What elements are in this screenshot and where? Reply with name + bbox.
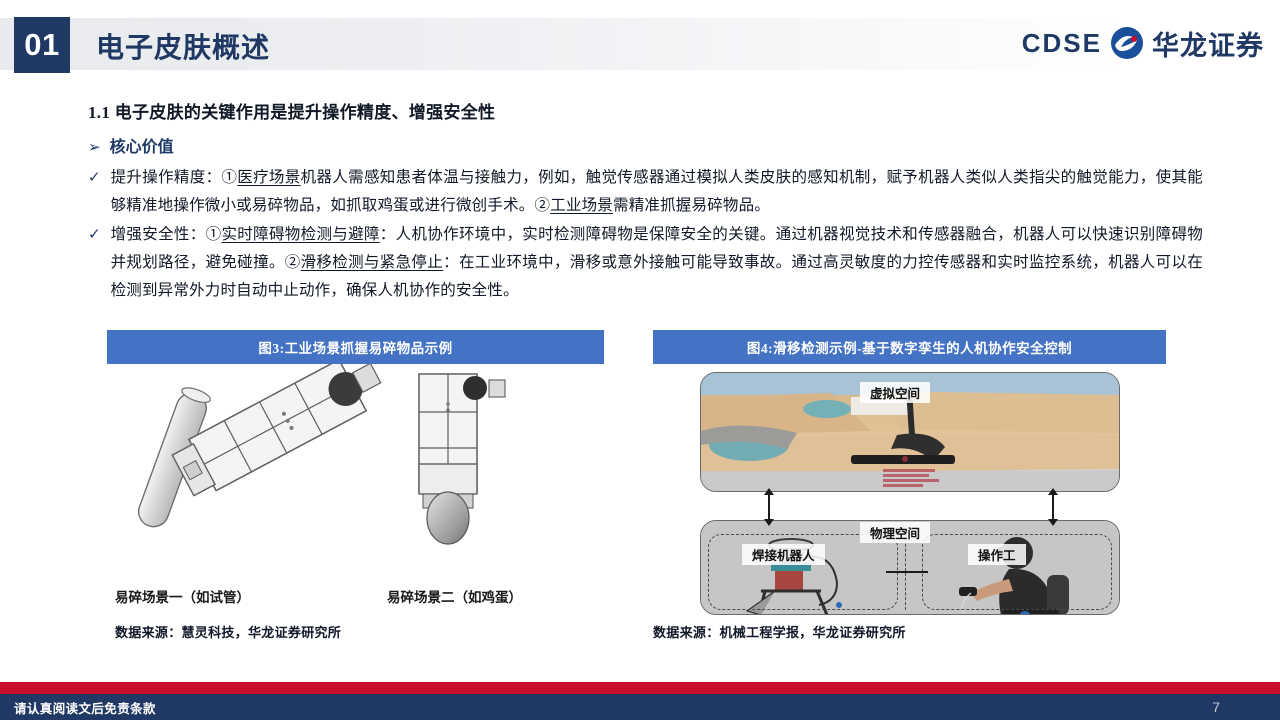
paragraph-safety-label: 增强安全性： xyxy=(111,226,206,243)
figure-4-caption: 图4:滑移检测示例-基于数字孪生的人机协作安全控制 xyxy=(653,330,1166,364)
figure-3-source: 数据来源：慧灵科技，华龙证券研究所 xyxy=(115,622,341,641)
sync-arrow-left-icon xyxy=(768,494,770,520)
sync-arrow-right-icon xyxy=(1052,494,1054,520)
gripper-label-1: 易碎场景一（如试管） xyxy=(115,586,250,606)
interaction-arrow-icon xyxy=(886,571,928,573)
figure-4-source: 数据来源：机械工程学报，华龙证券研究所 xyxy=(653,622,906,641)
figure-3: 图3:工业场景抓握易碎物品示例 xyxy=(107,330,604,619)
arrow-bullet-icon: ➢ xyxy=(88,138,101,157)
paragraph-safety-text: 增强安全性：①实时障碍物检测与避障：人机协作环境中，实时检测障碍物是保障安全的关… xyxy=(111,221,1203,305)
seg-underlined: 实时障碍物检测与避障 xyxy=(221,226,379,243)
section-subtitle: 1.1 电子皮肤的关键作用是提升操作精度、增强安全性 xyxy=(88,98,495,123)
gripper-illustrations xyxy=(107,364,604,579)
seg-underlined: 滑移检测与紧急停止 xyxy=(301,254,444,271)
slide-header: 01 电子皮肤概述 CDSE 华龙证券 xyxy=(0,0,1280,88)
seg: 需精准抓握易碎物品。 xyxy=(613,197,770,214)
wave-swoosh-icon xyxy=(1109,25,1145,61)
paragraph-precision: ✓ 提升操作精度：①医疗场景机器人需感知患者体温与接触力，例如，触觉传感器通过模… xyxy=(88,164,1203,220)
core-value-label: 核心价值 xyxy=(110,133,174,157)
page-title: 电子皮肤概述 xyxy=(96,26,270,66)
figure-3-caption: 图3:工业场景抓握易碎物品示例 xyxy=(107,330,604,364)
footer-disclaimer: 请认真阅读文后免责条款 xyxy=(14,698,156,717)
seg: ① xyxy=(206,226,222,243)
check-bullet-icon: ✓ xyxy=(88,221,101,249)
brand-cdse-text: CDSE xyxy=(1022,28,1102,59)
seg-underlined: 工业场景 xyxy=(550,197,613,214)
label-welding-robot: 焊接机器人 xyxy=(742,544,825,565)
digital-twin-diagram: 虚拟空间 物理空间 焊接机器人 操作工 xyxy=(700,372,1120,615)
figure-3-image: 易碎场景一（如试管） 易碎场景二（如鸡蛋） xyxy=(107,364,604,619)
figure-4: 图4:滑移检测示例-基于数字孪生的人机协作安全控制 xyxy=(653,330,1166,619)
paragraph-safety: ✓ 增强安全性：①实时障碍物检测与避障：人机协作环境中，实时检测障碍物是保障安全… xyxy=(88,221,1203,305)
label-physical-space: 物理空间 xyxy=(860,522,930,543)
figure-4-image: 虚拟空间 物理空间 焊接机器人 操作工 xyxy=(653,364,1166,619)
section-number-badge: 01 xyxy=(14,17,70,73)
seg-underlined: 医疗场景 xyxy=(237,169,300,186)
seg: ① xyxy=(221,169,237,186)
gripper-label-2: 易碎场景二（如鸡蛋） xyxy=(387,586,522,606)
brand-chinese-name: 华龙证券 xyxy=(1152,24,1264,63)
check-bullet-icon: ✓ xyxy=(88,164,101,192)
footer-bar: 请认真阅读文后免责条款 7 xyxy=(0,694,1280,720)
paragraph-precision-label: 提升操作精度： xyxy=(111,169,222,186)
brand-logo: CDSE 华龙证券 xyxy=(1022,22,1264,64)
footer-red-bar xyxy=(0,682,1280,694)
seg: ② xyxy=(285,254,301,271)
label-operator: 操作工 xyxy=(968,544,1026,565)
seg: ② xyxy=(534,197,550,214)
page-number: 7 xyxy=(1212,699,1220,715)
label-virtual-space: 虚拟空间 xyxy=(860,382,930,403)
paragraph-precision-text: 提升操作精度：①医疗场景机器人需感知患者体温与接触力，例如，触觉传感器通过模拟人… xyxy=(111,164,1203,220)
core-value-heading: ➢ 核心价值 xyxy=(88,133,174,157)
